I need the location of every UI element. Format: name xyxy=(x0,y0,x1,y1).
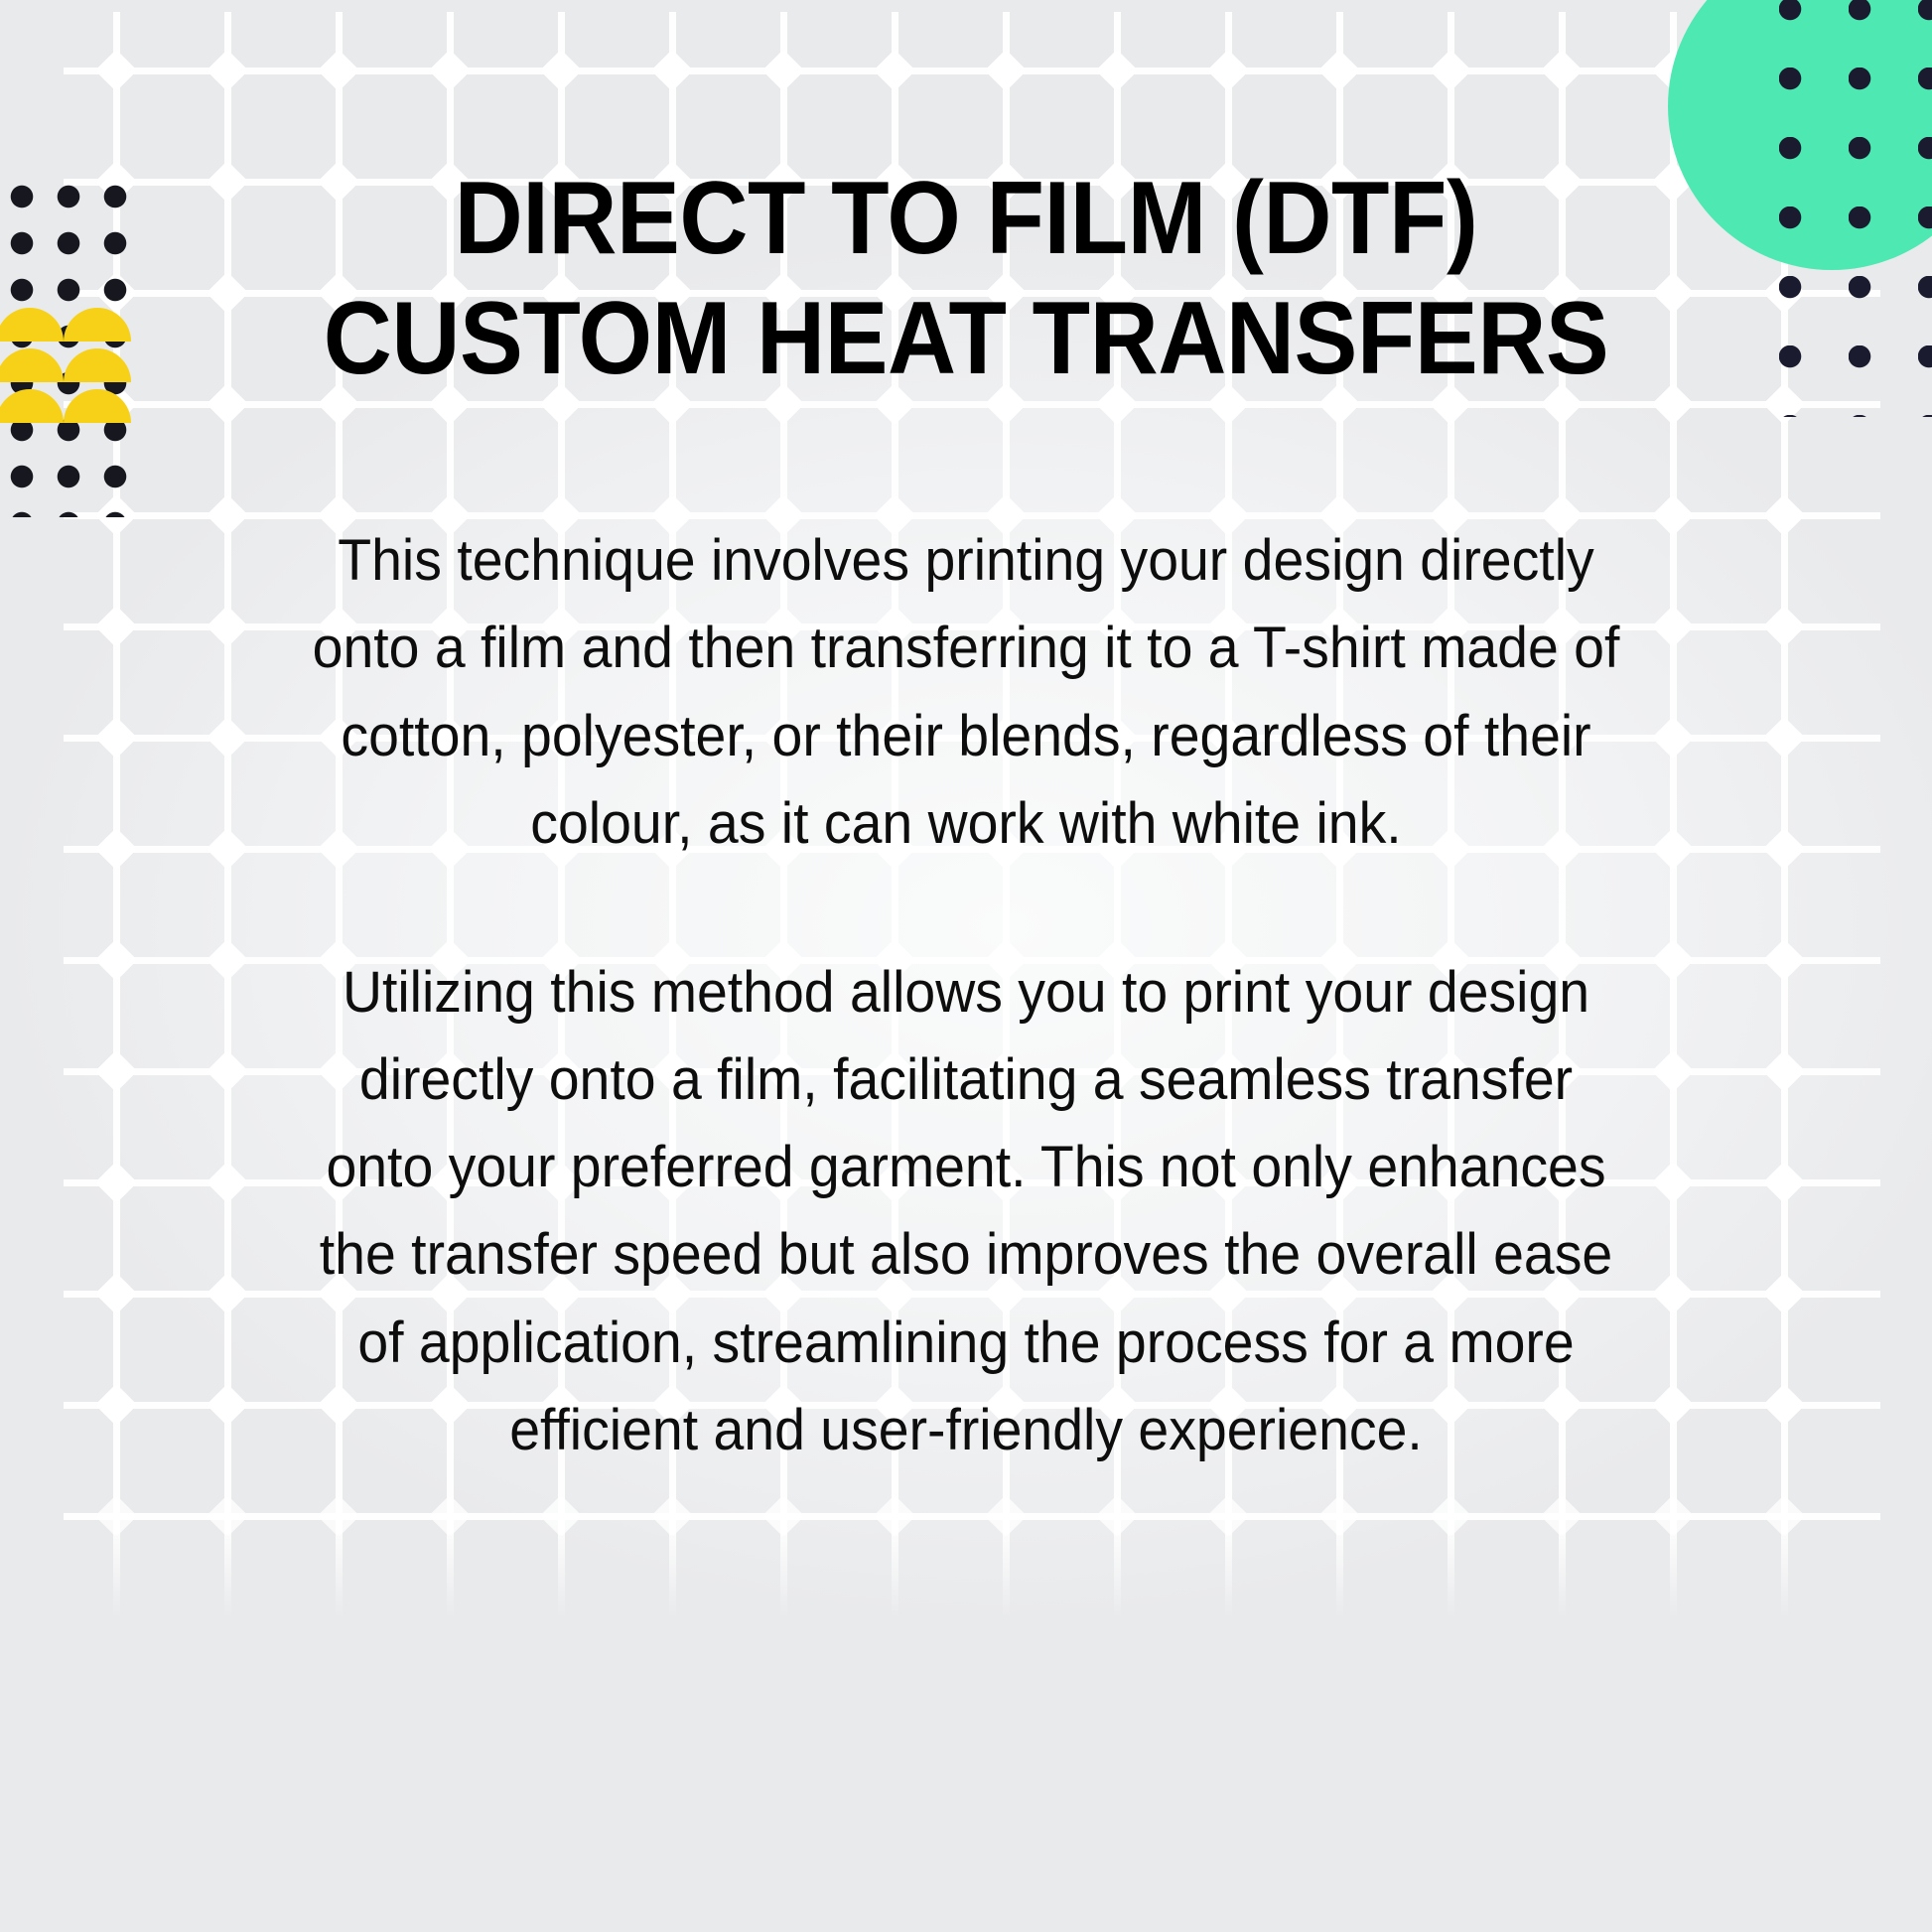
body-paragraph-2: Utilizing this method allows you to prin… xyxy=(303,949,1630,1474)
page-title-line-2: CUSTOM HEAT TRANSFERS xyxy=(281,279,1651,399)
body-paragraph-1: This technique involves printing your de… xyxy=(303,517,1630,868)
slide-content: DIRECT TO FILM (DTF) CUSTOM HEAT TRANSFE… xyxy=(0,0,1932,1932)
slide-canvas: DIRECT TO FILM (DTF) CUSTOM HEAT TRANSFE… xyxy=(0,0,1932,1932)
page-title-line-1: DIRECT TO FILM (DTF) xyxy=(281,159,1651,279)
body-text-block: This technique involves printing your de… xyxy=(303,517,1630,1474)
page-title: DIRECT TO FILM (DTF) CUSTOM HEAT TRANSFE… xyxy=(281,159,1651,398)
